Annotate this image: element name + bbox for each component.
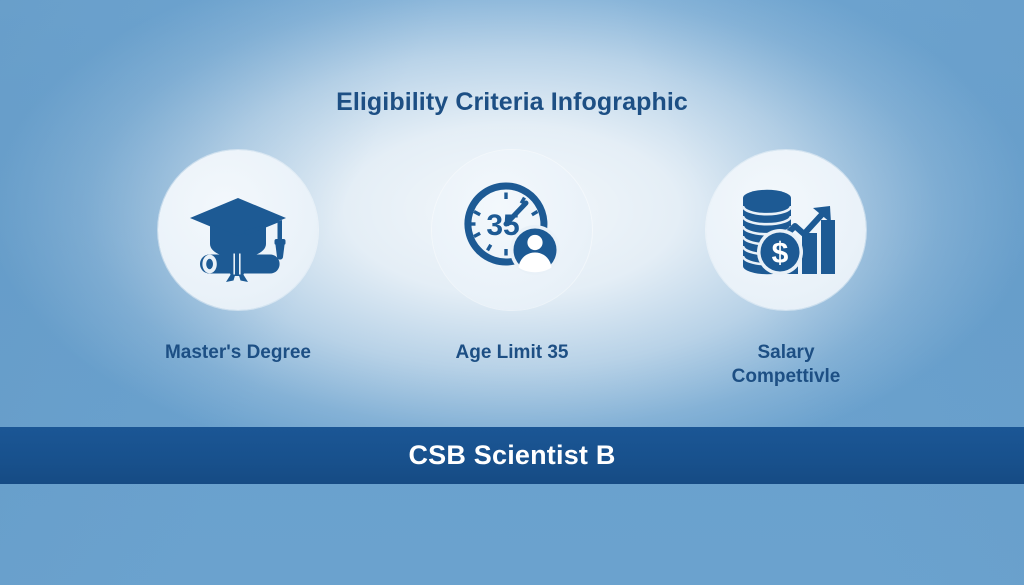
icon-disc-age: 35 [432, 150, 592, 310]
criteria-card-degree: Master's Degree [122, 150, 354, 365]
criteria-label-age: Age Limit 35 [456, 341, 569, 365]
infographic-canvas: Eligibility Criteria Infographic [0, 0, 1024, 585]
icon-disc-salary: $ [706, 150, 866, 310]
coins-growth-chart-icon: $ [734, 178, 838, 282]
banner-title: CSB Scientist B [408, 440, 615, 471]
icon-disc-degree [158, 150, 318, 310]
graduation-cap-diploma-icon [186, 178, 290, 282]
clock-age-person-icon: 35 [460, 178, 564, 282]
criteria-label-salary: Salary Compettivle [732, 341, 841, 390]
criteria-card-salary: $ Salary Compettivle [670, 150, 902, 390]
page-title: Eligibility Criteria Infographic [0, 88, 1024, 117]
footer-banner: CSB Scientist B [0, 427, 1024, 484]
criteria-card-age: 35 Age Limit 35 [396, 150, 628, 365]
criteria-card-row: Master's Degree [122, 150, 902, 390]
currency-symbol-text: $ [772, 237, 789, 270]
criteria-label-degree: Master's Degree [165, 341, 311, 365]
